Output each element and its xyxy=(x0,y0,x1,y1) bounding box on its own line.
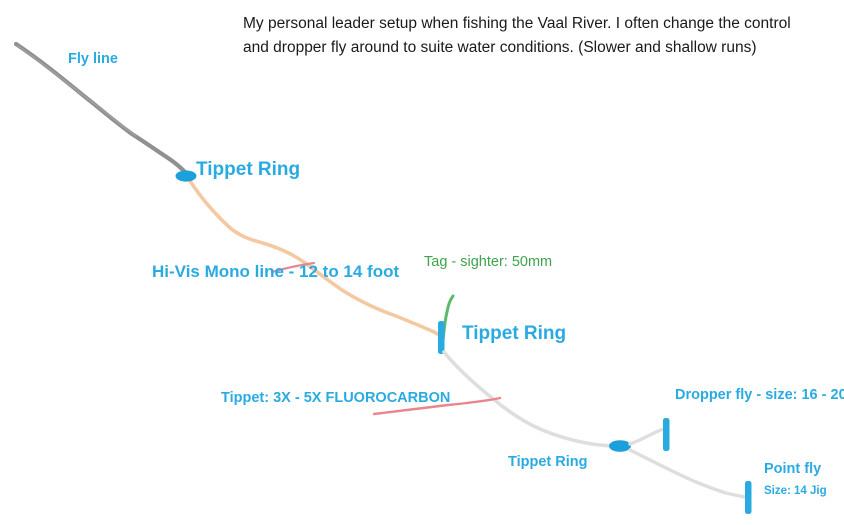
label-tippet-ring-3: Tippet Ring xyxy=(508,454,587,472)
label-tippet-ring-1: Tippet Ring xyxy=(196,158,300,181)
label-tippet-material: Tippet: 3X - 5X FLUOROCARBON xyxy=(221,390,411,408)
label-dropper-fly: Dropper fly - size: 16 - 20 xyxy=(675,387,840,405)
point-tippet-path xyxy=(630,450,745,497)
diagram-note: My personal leader setup when fishing th… xyxy=(243,12,803,59)
diagram-drawing-layer xyxy=(0,0,844,525)
dropper-branch-path xyxy=(630,429,664,444)
dropper-fly-marker xyxy=(663,418,670,451)
label-tippet-ring-2: Tippet Ring xyxy=(462,322,566,345)
tippet-ring-3-marker xyxy=(609,440,631,452)
label-tag-sighter: Tag - sighter: 50mm xyxy=(424,254,552,272)
point-fly-marker xyxy=(745,481,752,514)
tippet-ring-1-marker xyxy=(176,170,197,181)
label-hi-vis-mono: Hi-Vis Mono line - 12 to 14 foot xyxy=(152,262,302,283)
fluorocarbon-tippet-path xyxy=(444,352,614,446)
leader-setup-diagram: My personal leader setup when fishing th… xyxy=(0,0,844,525)
label-point-fly: Point fly xyxy=(764,461,821,479)
label-fly-line: Fly line xyxy=(68,51,118,69)
hi-vis-mono-path xyxy=(190,181,441,336)
label-point-fly-size: Size: 14 Jig xyxy=(764,484,827,498)
tippet-ring-2-marker xyxy=(438,321,445,354)
